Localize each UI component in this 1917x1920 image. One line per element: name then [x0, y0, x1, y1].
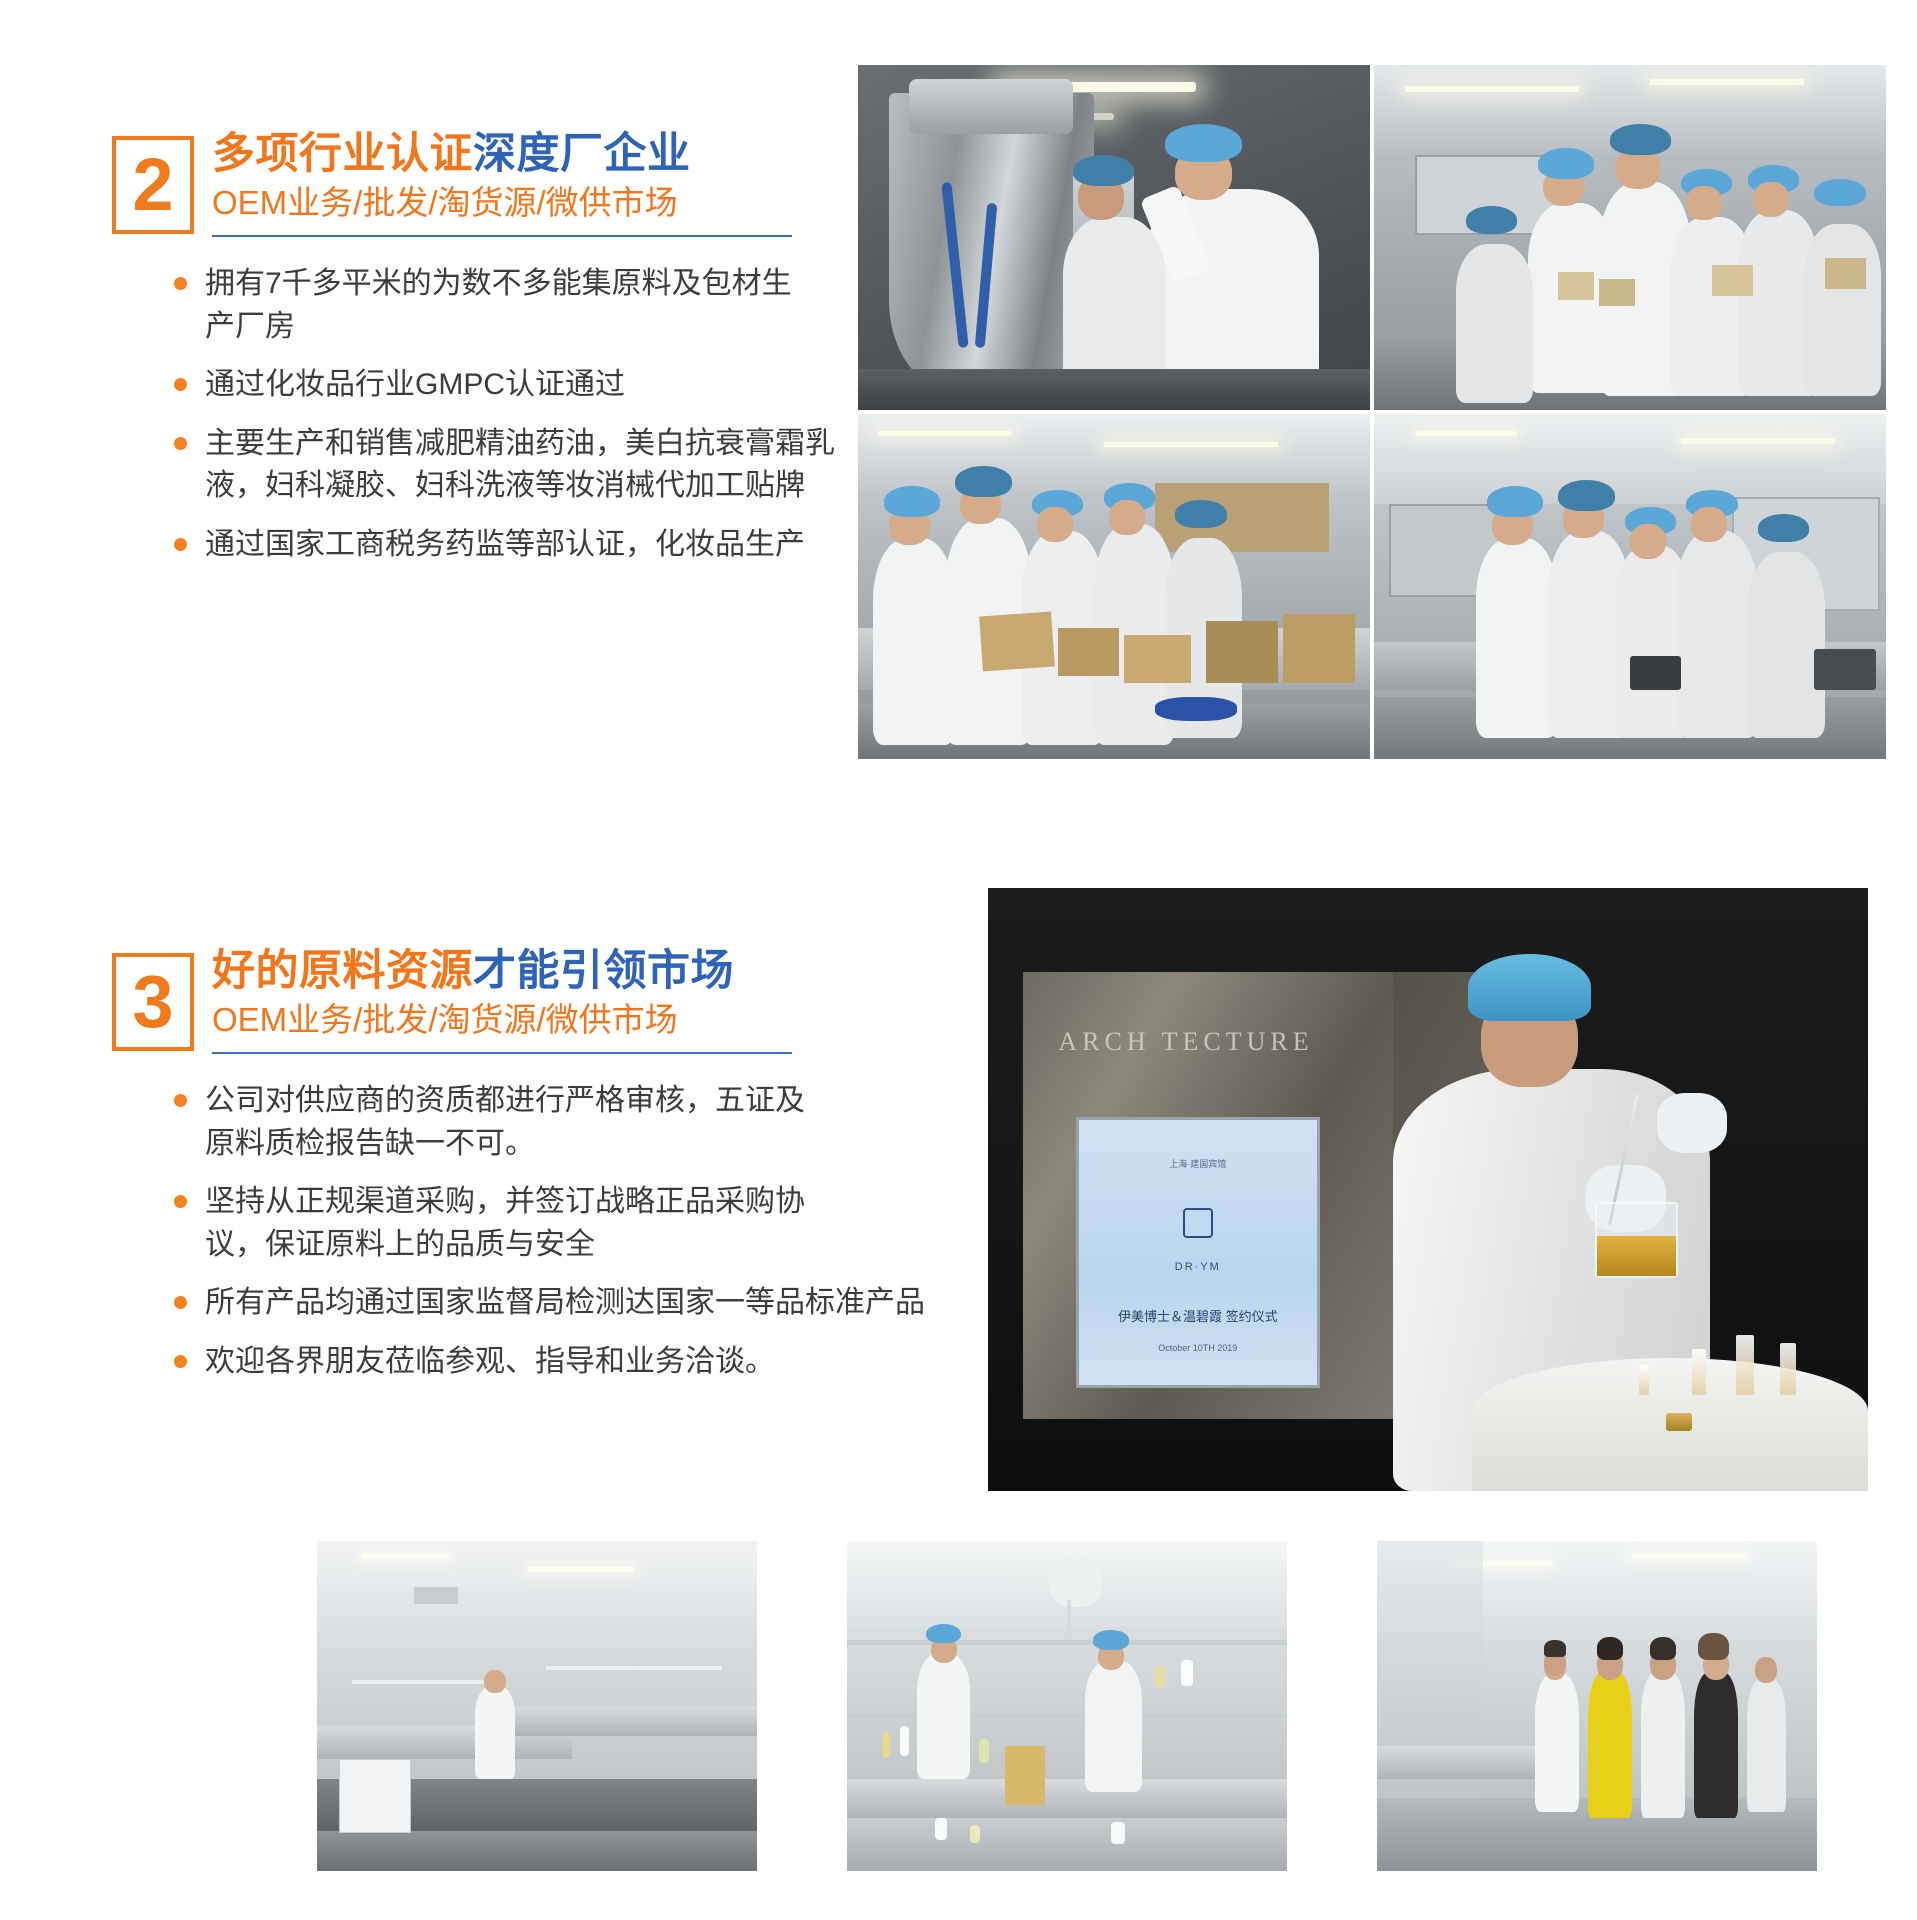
bullet-dot-icon [174, 538, 187, 551]
section-2-number: 2 [112, 136, 194, 234]
bullet-dot-icon [174, 437, 187, 450]
list-item-text: 拥有7千多平米的为数不多能集原料及包材生产厂房 [205, 263, 805, 348]
section-3-number: 3 [112, 953, 194, 1051]
bullet-dot-icon [174, 1296, 187, 1309]
section-3-title-orange: 好的原料资源 [212, 947, 473, 995]
list-item-text: 所有产品均通过国家监督局检测达国家一等品标准产品 [205, 1282, 925, 1325]
section-2-subtitle: OEM业务/批发/淘货源/微供市场 [212, 182, 792, 225]
list-item-text: 公司对供应商的资质都进行严格审核，五证及原料质检报告缺一不可。 [205, 1080, 825, 1165]
screen-subtitle: October 10TH 2019 [1079, 1343, 1317, 1353]
section-2-title-blue: 深度厂企业 [473, 130, 691, 178]
section-3-divider [212, 1052, 792, 1054]
section-2: 2 多项行业认证深度厂企业 OEM业务/批发/淘货源/微供市场 拥有7千多平米的… [112, 128, 872, 583]
section-2-title-orange: 多项行业认证 [212, 130, 473, 178]
bullet-dot-icon [174, 277, 187, 290]
list-item: 公司对供应商的资质都进行严格审核，五证及原料质检报告缺一不可。 [174, 1080, 932, 1165]
list-item-text: 欢迎各界朋友莅临参观、指导和业务洽谈。 [205, 1341, 775, 1384]
section-3: 3 好的原料资源才能引领市场 OEM业务/批发/淘货源/微供市场 公司对供应商的… [112, 945, 932, 1400]
photo-assembly-room-workers [1374, 414, 1886, 759]
section-2-divider [212, 235, 792, 237]
presentation-screen: 上海·建国宾馆 DR·YM 伊美博士＆温碧霞 签约仪式 October 10TH… [1076, 1117, 1320, 1388]
list-item-text: 主要生产和销售减肥精油药油，美白抗衰膏霜乳液，妇科凝胶、妇科洗液等妆消械代加工贴… [205, 423, 855, 508]
section-2-bullet-list: 拥有7千多平米的为数不多能集原料及包材生产厂房 通过化妆品行业GMPC认证通过 … [174, 263, 872, 567]
bullet-dot-icon [174, 1195, 187, 1208]
list-item: 欢迎各界朋友莅临参观、指导和业务洽谈。 [174, 1341, 932, 1384]
wall-sign-text: ARCH TECTURE [1058, 1027, 1313, 1057]
photo-lab-room-wide [317, 1541, 757, 1871]
list-item: 通过化妆品行业GMPC认证通过 [174, 364, 872, 407]
list-item-text: 坚持从正规渠道采购，并签订战略正品采购协议，保证原料上的品质与安全 [205, 1181, 835, 1266]
bullet-dot-icon [174, 378, 187, 391]
screen-title: 伊美博士＆温碧霞 签约仪式 [1079, 1306, 1317, 1325]
photo-carton-packing-workers [858, 414, 1370, 759]
brand-logo-icon [1183, 1208, 1213, 1238]
section-2-heading: 2 多项行业认证深度厂企业 OEM业务/批发/淘货源/微供市场 [112, 128, 872, 237]
list-item: 坚持从正规渠道采购，并签订战略正品采购协议，保证原料上的品质与安全 [174, 1181, 932, 1266]
section-3-subtitle: OEM业务/批发/淘货源/微供市场 [212, 999, 792, 1042]
section-3-title: 好的原料资源才能引领市场 [212, 947, 792, 995]
section-3-title-blue: 才能引领市场 [473, 947, 734, 995]
section-2-title: 多项行业认证深度厂企业 [212, 130, 792, 178]
bullet-dot-icon [174, 1355, 187, 1368]
photo-lab-visitors-tour [1377, 1541, 1817, 1871]
bullet-dot-icon [174, 1094, 187, 1107]
list-item: 拥有7千多平米的为数不多能集原料及包材生产厂房 [174, 263, 872, 348]
list-item-text: 通过化妆品行业GMPC认证通过 [205, 364, 625, 407]
section-3-heading: 3 好的原料资源才能引领市场 OEM业务/批发/淘货源/微供市场 [112, 945, 932, 1054]
list-item: 通过国家工商税务药监等部认证，化妆品生产 [174, 524, 872, 567]
list-item: 主要生产和销售减肥精油药油，美白抗衰膏霜乳液，妇科凝胶、妇科洗液等妆消械代加工贴… [174, 423, 872, 508]
list-item-text: 通过国家工商税务药监等部认证，化妆品生产 [205, 524, 805, 567]
photo-mixing-tank-operator [858, 65, 1370, 410]
photo-packing-line-workers [1374, 65, 1886, 410]
photo-lab-bench-testing [847, 1541, 1287, 1871]
list-item: 所有产品均通过国家监督局检测达国家一等品标准产品 [174, 1282, 932, 1325]
photo-signing-ceremony-lab-demo: ARCH TECTURE 上海·建国宾馆 DR·YM 伊美博士＆温碧霞 签约仪式… [988, 888, 1868, 1491]
section-3-bullet-list: 公司对供应商的资质都进行严格审核，五证及原料质检报告缺一不可。 坚持从正规渠道采… [174, 1080, 932, 1384]
screen-brand: DR·YM [1079, 1261, 1317, 1273]
screen-line-top: 上海·建国宾馆 [1079, 1157, 1317, 1170]
